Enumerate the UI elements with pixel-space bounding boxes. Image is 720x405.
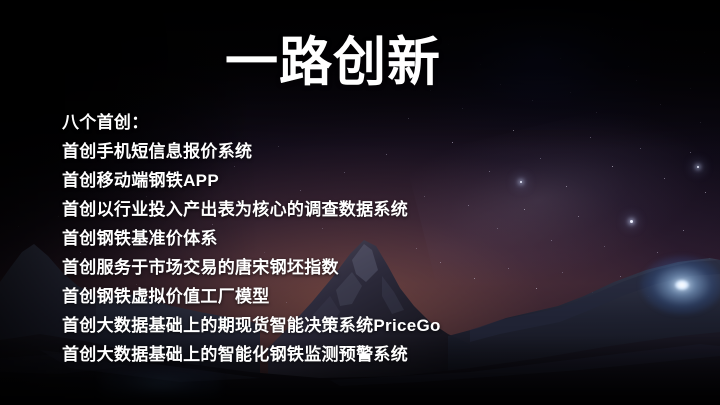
list-item: 首创以行业投入产出表为核心的调查数据系统 <box>62 195 542 224</box>
list-item: 首创服务于市场交易的唐宋钢坯指数 <box>62 253 542 282</box>
list-item: 八个首创： <box>62 108 542 137</box>
slide-content: 一路创新 八个首创： 首创手机短信息报价系统 首创移动端钢铁APP 首创以行业投… <box>0 0 720 405</box>
page-title: 一路创新 <box>225 34 441 91</box>
presentation-slide: 一路创新 八个首创： 首创手机短信息报价系统 首创移动端钢铁APP 首创以行业投… <box>0 0 720 405</box>
list-item: 首创钢铁基准价体系 <box>62 224 542 253</box>
list-item: 首创大数据基础上的智能化钢铁监测预警系统 <box>62 340 542 369</box>
bullet-list: 八个首创： 首创手机短信息报价系统 首创移动端钢铁APP 首创以行业投入产出表为… <box>62 108 542 369</box>
list-item: 首创钢铁虚拟价值工厂模型 <box>62 282 542 311</box>
list-item: 首创大数据基础上的期现货智能决策系统PriceGo <box>62 311 542 340</box>
list-item: 首创手机短信息报价系统 <box>62 137 542 166</box>
list-item: 首创移动端钢铁APP <box>62 166 542 195</box>
